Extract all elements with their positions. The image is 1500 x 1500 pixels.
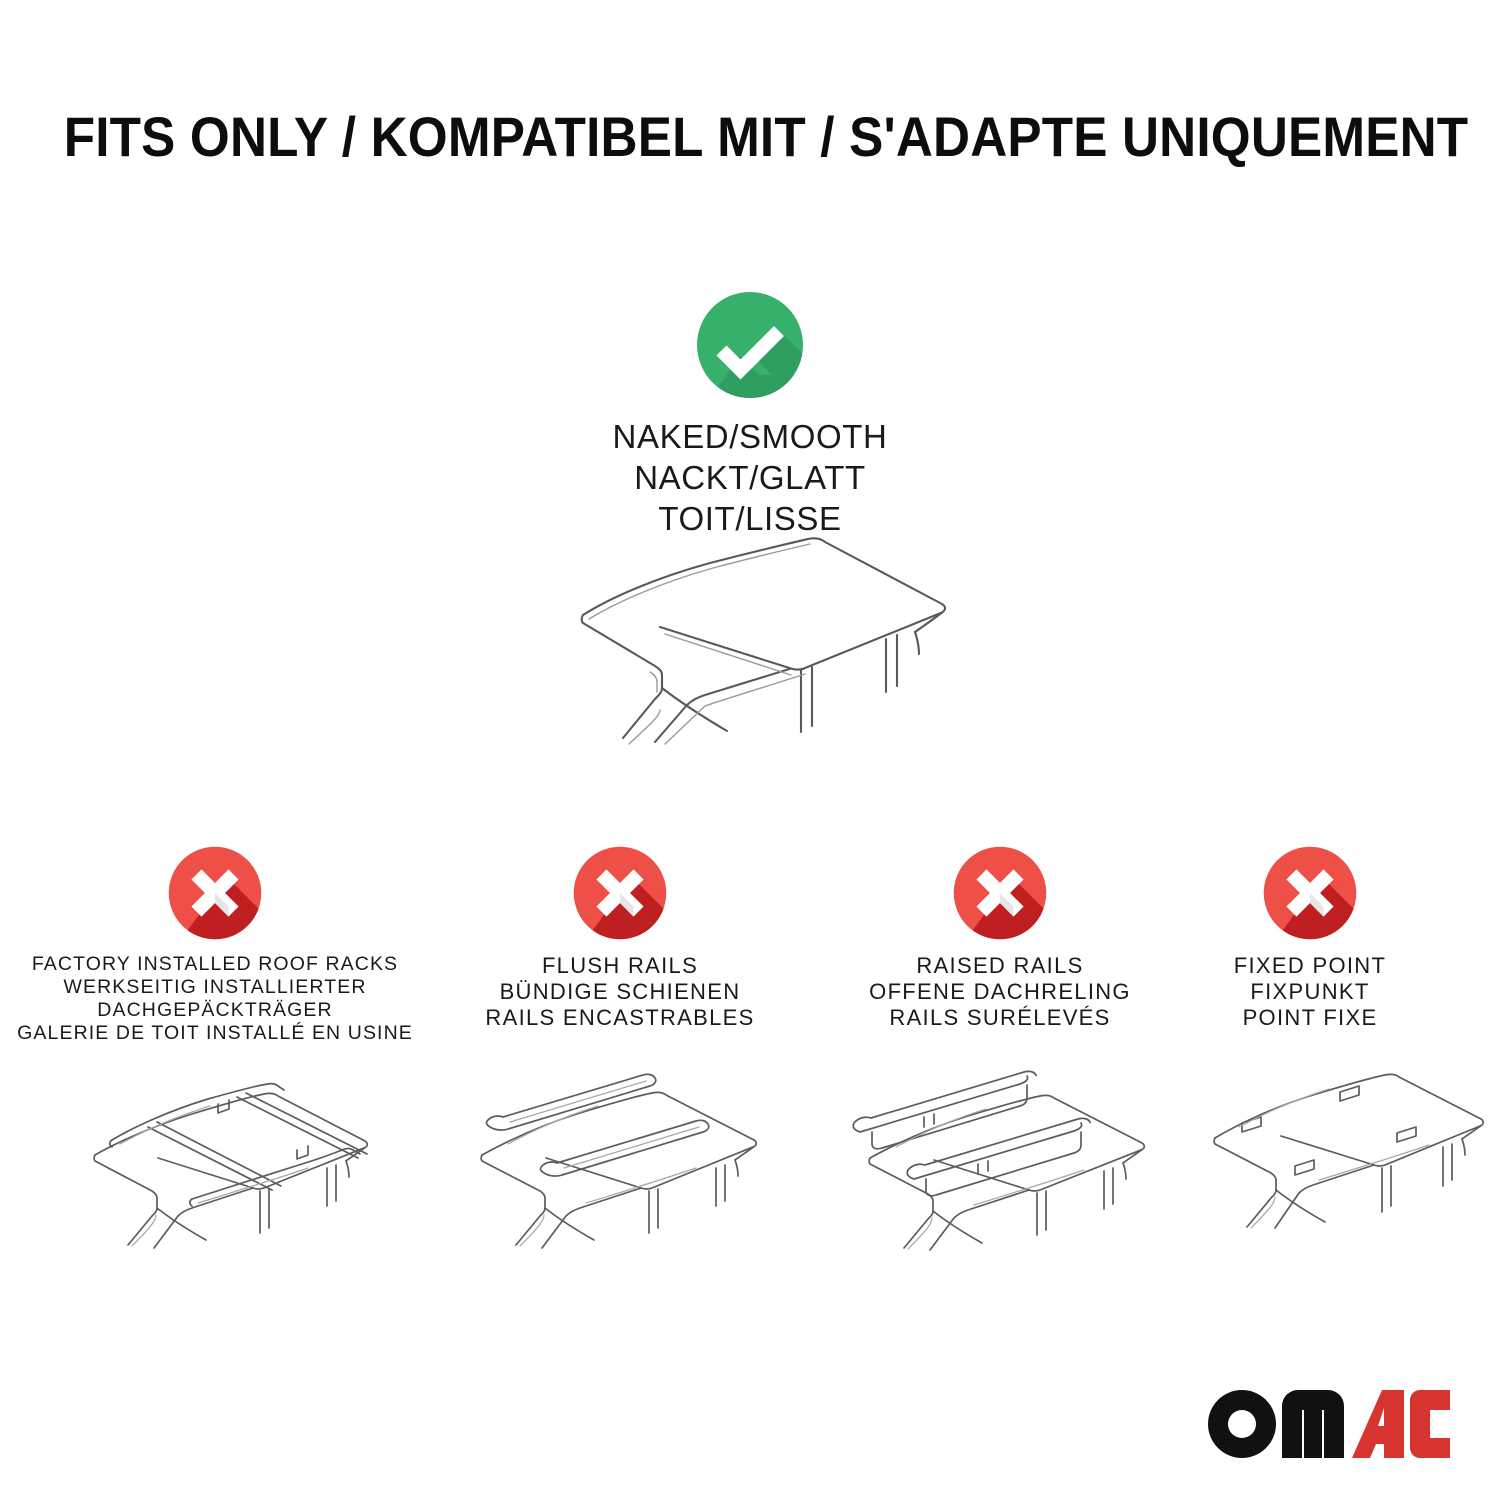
rejected-roof-type-factory-roof-racks: FACTORY INSTALLED ROOF RACKS WERKSEITIG … (15, 845, 415, 1045)
reject3-label-en: RAISED RAILS (815, 953, 1185, 979)
rejected-roof-type-fixed-point: FIXED POINT FIXPUNKT POINT FIXE (1160, 845, 1460, 1031)
rejected-roof-type-flush-rails: FLUSH RAILS BÜNDIGE SCHIENEN RAILS ENCAS… (435, 845, 805, 1031)
rejected-roof-type-raised-rails: RAISED RAILS OFFENE DACHRELING RAILS SUR… (815, 845, 1185, 1031)
approved-label-de: NACKT/GLATT (0, 457, 1500, 498)
reject2-label-de: BÜNDIGE SCHIENEN (435, 979, 805, 1005)
reject4-label-en: FIXED POINT (1160, 953, 1460, 979)
red-x-icon (952, 845, 1048, 941)
reject4-label-fr: POINT FIXE (1160, 1005, 1460, 1031)
omac-logo (1206, 1388, 1452, 1462)
car-roof-with-flush-rails-illustration (430, 1060, 810, 1285)
approved-roof-type-section: NAKED/SMOOTH NACKT/GLATT TOIT/LISSE (0, 290, 1500, 539)
page-title: FITS ONLY / KOMPATIBEL MIT / S'ADAPTE UN… (64, 104, 1437, 169)
reject1-label-de1: WERKSEITIG INSTALLIERTER (15, 976, 415, 999)
rejected-labels-fixed-point: FIXED POINT FIXPUNKT POINT FIXE (1160, 953, 1460, 1031)
red-x-icon (167, 845, 263, 941)
reject2-label-en: FLUSH RAILS (435, 953, 805, 979)
reject2-label-fr: RAILS ENCASTRABLES (435, 1005, 805, 1031)
rejected-labels-factory-roof-racks: FACTORY INSTALLED ROOF RACKS WERKSEITIG … (15, 953, 415, 1045)
reject3-label-fr: RAILS SURÉLEVÉS (815, 1005, 1185, 1031)
bare-smooth-car-roof-illustration (505, 520, 995, 775)
reject3-label-de: OFFENE DACHRELING (815, 979, 1185, 1005)
reject4-label-de: FIXPUNKT (1160, 979, 1460, 1005)
car-roof-with-fixed-points-illustration (1185, 1060, 1500, 1285)
omac-logo-mark (1206, 1388, 1452, 1462)
reject1-label-en: FACTORY INSTALLED ROOF RACKS (15, 953, 415, 976)
rejected-labels-raised-rails: RAISED RAILS OFFENE DACHRELING RAILS SUR… (815, 953, 1185, 1031)
approved-label-en: NAKED/SMOOTH (0, 416, 1500, 457)
green-check-icon (695, 290, 805, 400)
reject1-label-fr: GALERIE DE TOIT INSTALLÉ EN USINE (15, 1022, 415, 1045)
rejected-labels-flush-rails: FLUSH RAILS BÜNDIGE SCHIENEN RAILS ENCAS… (435, 953, 805, 1031)
car-roof-with-raised-rails-illustration (820, 1060, 1200, 1285)
red-x-icon (572, 845, 668, 941)
red-x-icon (1262, 845, 1358, 941)
car-roof-with-factory-roof-rack-illustration (40, 1060, 420, 1285)
reject1-label-de2: DACHGEPÄCKTRÄGER (15, 999, 415, 1022)
